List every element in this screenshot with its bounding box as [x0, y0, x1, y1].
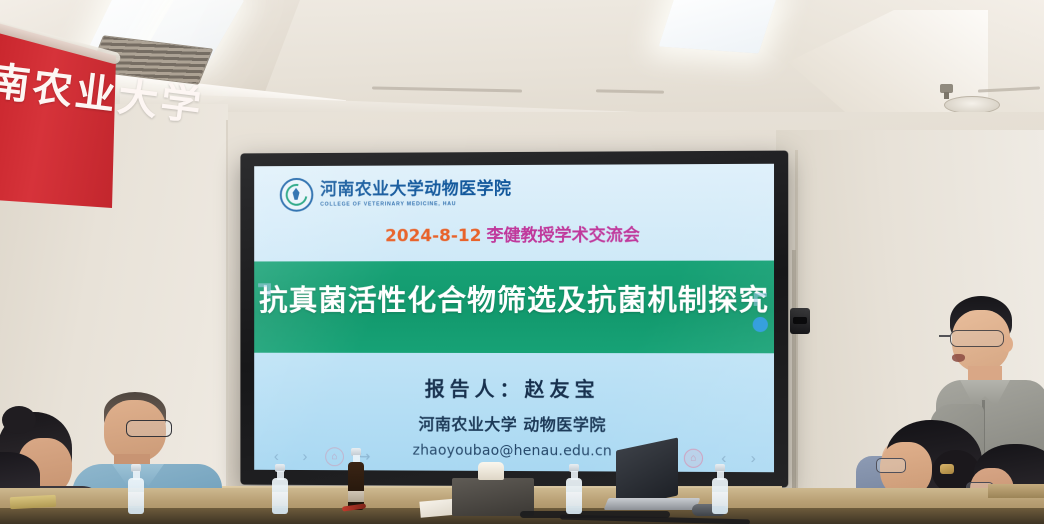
- slide-event-date: 2024-8-12: [385, 226, 481, 246]
- next-icon[interactable]: ›: [745, 450, 762, 467]
- display-screen[interactable]: 河南农业大学动物医学院 COLLEGE OF VETERINARY MEDICI…: [254, 164, 774, 472]
- sprinkler-head-icon: [940, 84, 953, 93]
- presenter-mouth: [952, 354, 965, 362]
- attendee-hair-bun: [2, 406, 36, 434]
- glasses-icon: [126, 420, 172, 437]
- bottle-label: [712, 492, 728, 506]
- slide-event-name: 李健教授学术交流会: [486, 226, 639, 246]
- laptop-base[interactable]: [604, 498, 701, 510]
- lecture-room-photo: 南农业大学 河南农业大学动物医学院 COLLEGE OF VETERINARY …: [0, 0, 1044, 524]
- screen-status-dot[interactable]: [753, 317, 768, 332]
- slide-event-line: 2024-8-12李健教授学术交流会: [254, 220, 774, 246]
- home-icon[interactable]: ⌂: [325, 447, 344, 466]
- wall-display[interactable]: 河南农业大学动物医学院 COLLEGE OF VETERINARY MEDICI…: [240, 151, 788, 488]
- next-icon[interactable]: ›: [297, 448, 314, 465]
- bottle-label: [566, 492, 582, 506]
- wall-panel-edge: [792, 250, 796, 524]
- bottle-label: [128, 492, 144, 506]
- home-icon[interactable]: ⌂: [684, 449, 703, 468]
- slide-affiliation: 河南农业大学 动物医学院: [254, 410, 774, 436]
- tissue-sheet: [478, 462, 504, 480]
- bottle-label: [272, 492, 288, 506]
- hair-clip-icon: [940, 464, 954, 474]
- wall-seam: [226, 120, 228, 524]
- presentation-slide: 河南农业大学动物医学院 COLLEGE OF VETERINARY MEDICI…: [254, 164, 774, 472]
- ceiling-light-panel: [659, 0, 778, 53]
- bottle-label: [348, 491, 364, 502]
- prev-icon[interactable]: ‹: [268, 448, 285, 465]
- wall-sensor-icon: [790, 308, 810, 334]
- glasses-icon: [876, 458, 906, 473]
- college-logo-english: COLLEGE OF VETERINARY MEDICINE, HAU: [320, 201, 511, 208]
- college-logo: 河南农业大学动物医学院 COLLEGE OF VETERINARY MEDICI…: [280, 177, 512, 212]
- slide-presenter-label: 报告人：赵友宝: [254, 373, 774, 403]
- notebook: [10, 495, 57, 509]
- college-logo-icon: [280, 178, 314, 212]
- slide-title: 抗真菌活性化合物筛选及抗菌机制探究: [254, 277, 774, 319]
- college-logo-chinese: 河南农业大学动物医学院: [320, 181, 511, 200]
- glasses-icon: [950, 330, 1004, 347]
- side-table: [988, 484, 1044, 498]
